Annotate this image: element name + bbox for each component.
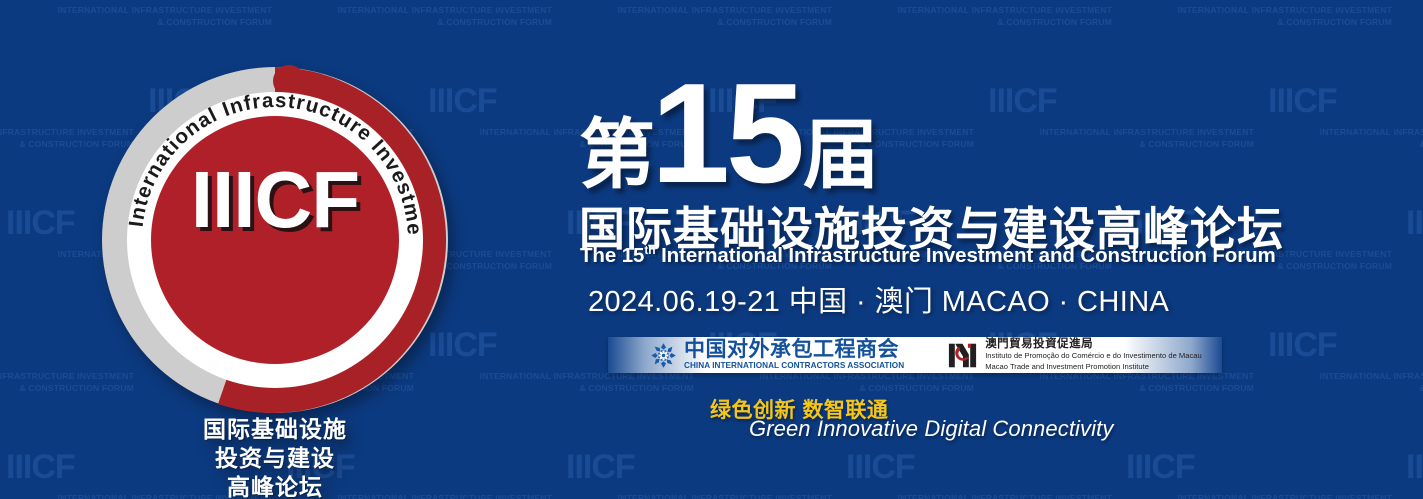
watermark-line-1: INTERNATIONAL INFRASTRUCTURE INVESTMENT	[1400, 248, 1423, 260]
watermark-subtext: INTERNATIONAL INFRASTRUCTURE INVESTMENT&…	[0, 4, 272, 29]
watermark-subtext: INTERNATIONAL INFRASTRUCTURE INVESTMENT&…	[1262, 370, 1423, 395]
ipim-text-block: 澳門貿易投資促進局 Instituto de Promoção do Comér…	[985, 337, 1202, 373]
emblem-chinese-name: 国际基础设施 投资与建设 高峰论坛	[100, 415, 450, 499]
watermark-acronym: IIICF	[6, 206, 75, 240]
watermark-line-1: INTERNATIONAL INFRASTRUCTURE INVESTMENT	[280, 4, 552, 16]
tagline-english: Green Innovative Digital Connectivity	[749, 416, 1113, 442]
watermark-line-2: & CONSTRUCTION FORUM	[1262, 138, 1423, 150]
watermark-acronym: IIICF	[1406, 206, 1423, 240]
ordinal-prefix: 第	[579, 120, 655, 192]
cica-english-name: CHINA INTERNATIONAL CONTRACTORS ASSOCIAT…	[684, 361, 904, 371]
cica-chinese-name: 中国对外承包工程商会	[684, 339, 904, 360]
cica-logo: 中国对外承包工程商会 CHINA INTERNATIONAL CONTRACTO…	[650, 339, 904, 371]
emblem-acronym: IIICF	[100, 160, 450, 240]
forum-title-english: The 15th International Infrastructure In…	[580, 243, 1276, 268]
ipim-chinese-name: 澳門貿易投資促進局	[985, 337, 1202, 351]
watermark-tile: IIICFINTERNATIONAL INFRASTRUCTURE INVEST…	[1400, 0, 1423, 82]
edition-ordinal-line: 第 15 届	[579, 62, 879, 192]
en-title-after: International Infrastructure Investment …	[655, 244, 1275, 267]
ipim-portuguese-name: Instituto de Promoção do Comércio e do I…	[985, 351, 1202, 362]
emblem-cn-line-3: 高峰论坛	[100, 473, 450, 499]
watermark-line-2: & CONSTRUCTION FORUM	[1400, 260, 1423, 272]
watermark-tile: IIICFINTERNATIONAL INFRASTRUCTURE INVEST…	[1262, 82, 1423, 204]
watermark-line-1: INTERNATIONAL INFRASTRUCTURE INVESTMENT	[1400, 4, 1423, 16]
watermark-line-2: & CONSTRUCTION FORUM	[0, 16, 272, 28]
watermark-subtext: INTERNATIONAL INFRASTRUCTURE INVESTMENT&…	[280, 4, 552, 29]
watermark-acronym: IIICF	[6, 450, 75, 484]
sponsor-bar: 中国对外承包工程商会 CHINA INTERNATIONAL CONTRACTO…	[608, 337, 1222, 373]
watermark-tile: IIICFINTERNATIONAL INFRASTRUCTURE INVEST…	[1262, 326, 1423, 448]
watermark-acronym: IIICF	[1268, 84, 1337, 118]
watermark-acronym: IIICF	[1268, 328, 1337, 362]
en-title-before: The 15	[580, 244, 644, 267]
emblem-cn-line-2: 投资与建设	[100, 444, 450, 473]
watermark-line-2: & CONSTRUCTION FORUM	[280, 16, 552, 28]
watermark-line-2: & CONSTRUCTION FORUM	[1262, 382, 1423, 394]
watermark-tile: IIICFINTERNATIONAL INFRASTRUCTURE INVEST…	[1400, 448, 1423, 499]
event-banner: IIICFINTERNATIONAL INFRASTRUCTURE INVEST…	[0, 0, 1423, 499]
date-and-location: 2024.06.19-21 中国 · 澳门 MACAO · CHINA	[588, 278, 1169, 320]
watermark-line-1: INTERNATIONAL INFRASTRUCTURE INVESTMENT	[0, 4, 272, 16]
iiicf-emblem-logo: International Infrastructure Investment …	[100, 65, 450, 415]
cica-snowflake-icon	[650, 342, 677, 369]
watermark-line-1: INTERNATIONAL INFRASTRUCTURE INVESTMENT	[1262, 126, 1423, 138]
ipim-monogram-icon	[948, 341, 977, 370]
ipim-logo: 澳門貿易投資促進局 Instituto de Promoção do Comér…	[948, 337, 1202, 373]
watermark-acronym: IIICF	[1406, 450, 1423, 484]
ipim-english-name: Macao Trade and Investment Promotion Ins…	[985, 362, 1202, 373]
watermark-line-1: INTERNATIONAL INFRASTRUCTURE INVESTMENT	[1400, 492, 1423, 499]
watermark-subtext: INTERNATIONAL INFRASTRUCTURE INVESTMENT&…	[1400, 492, 1423, 499]
watermark-tile: IIICFINTERNATIONAL INFRASTRUCTURE INVEST…	[1400, 204, 1423, 326]
watermark-subtext: INTERNATIONAL INFRASTRUCTURE INVESTMENT&…	[1400, 4, 1423, 29]
watermark-line-1: INTERNATIONAL INFRASTRUCTURE INVESTMENT	[1262, 370, 1423, 382]
watermark-subtext: INTERNATIONAL INFRASTRUCTURE INVESTMENT&…	[1262, 126, 1423, 151]
watermark-subtext: INTERNATIONAL INFRASTRUCTURE INVESTMENT&…	[1400, 248, 1423, 273]
watermark-line-2: & CONSTRUCTION FORUM	[1400, 16, 1423, 28]
edition-number: 15	[651, 76, 801, 192]
emblem-cn-line-1: 国际基础设施	[100, 415, 450, 444]
ordinal-suffix: 届	[803, 120, 879, 192]
ordinal-superscript: th	[644, 243, 655, 257]
cica-text-block: 中国对外承包工程商会 CHINA INTERNATIONAL CONTRACTO…	[684, 339, 904, 371]
